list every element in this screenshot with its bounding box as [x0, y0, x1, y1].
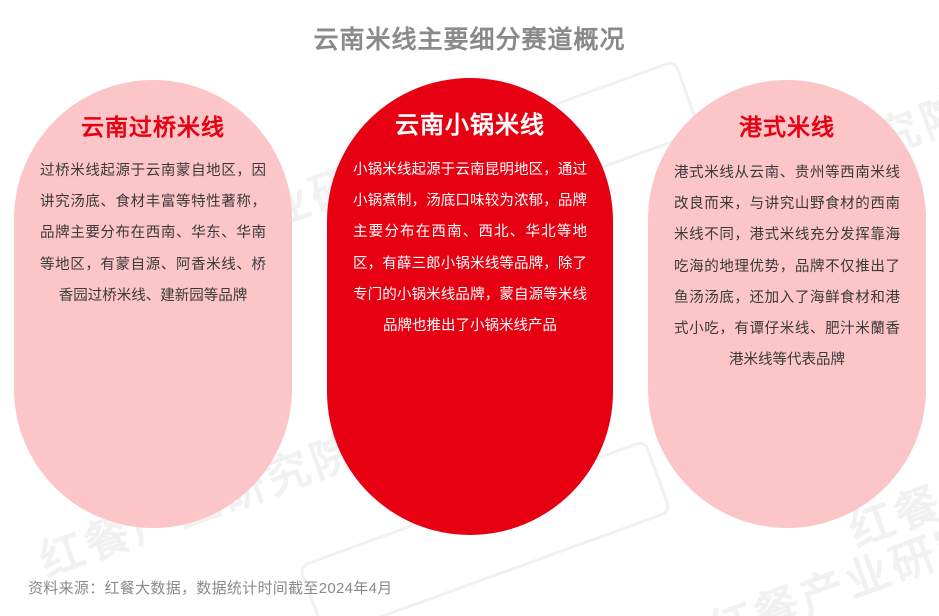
card-title: 云南小锅米线 — [395, 112, 545, 141]
cards-container: 云南过桥米线 过桥米线起源于云南蒙自地区，因讲究汤底、食材丰富等特性著称，品牌主… — [0, 0, 939, 616]
infographic-root: 红餐产业研究院 红餐产业研究院 红餐产业研究院 红餐产业研究院 红餐产业研究院 … — [0, 0, 939, 616]
card-body-text: 小锅米线起源于云南昆明地区，通过小锅煮制，汤底口味较为浓郁，品牌主要分布在西南、… — [353, 155, 587, 343]
card-body-text: 过桥米线起源于云南蒙自地区，因讲究汤底、食材丰富等特性著称，品牌主要分布在西南、… — [40, 156, 266, 313]
card-title: 港式米线 — [739, 114, 835, 142]
page-title: 云南米线主要细分赛道概况 — [0, 20, 939, 56]
card-xiaoguo-mixian: 云南小锅米线 小锅米线起源于云南昆明地区，通过小锅煮制，汤底口味较为浓郁，品牌主… — [327, 78, 613, 535]
card-title: 云南过桥米线 — [81, 114, 225, 142]
card-body-text: 港式米线从云南、贵州等西南米线改良而来，与讲究山野食材的西南米线不同，港式米线充… — [674, 158, 900, 377]
source-note: 资料来源：红餐大数据，数据统计时间截至2024年4月 — [28, 577, 393, 598]
card-guoqiao-mixian: 云南过桥米线 过桥米线起源于云南蒙自地区，因讲究汤底、食材丰富等特性著称，品牌主… — [14, 80, 292, 528]
card-gangshi-mixian: 港式米线 港式米线从云南、贵州等西南米线改良而来，与讲究山野食材的西南米线不同，… — [648, 80, 926, 528]
